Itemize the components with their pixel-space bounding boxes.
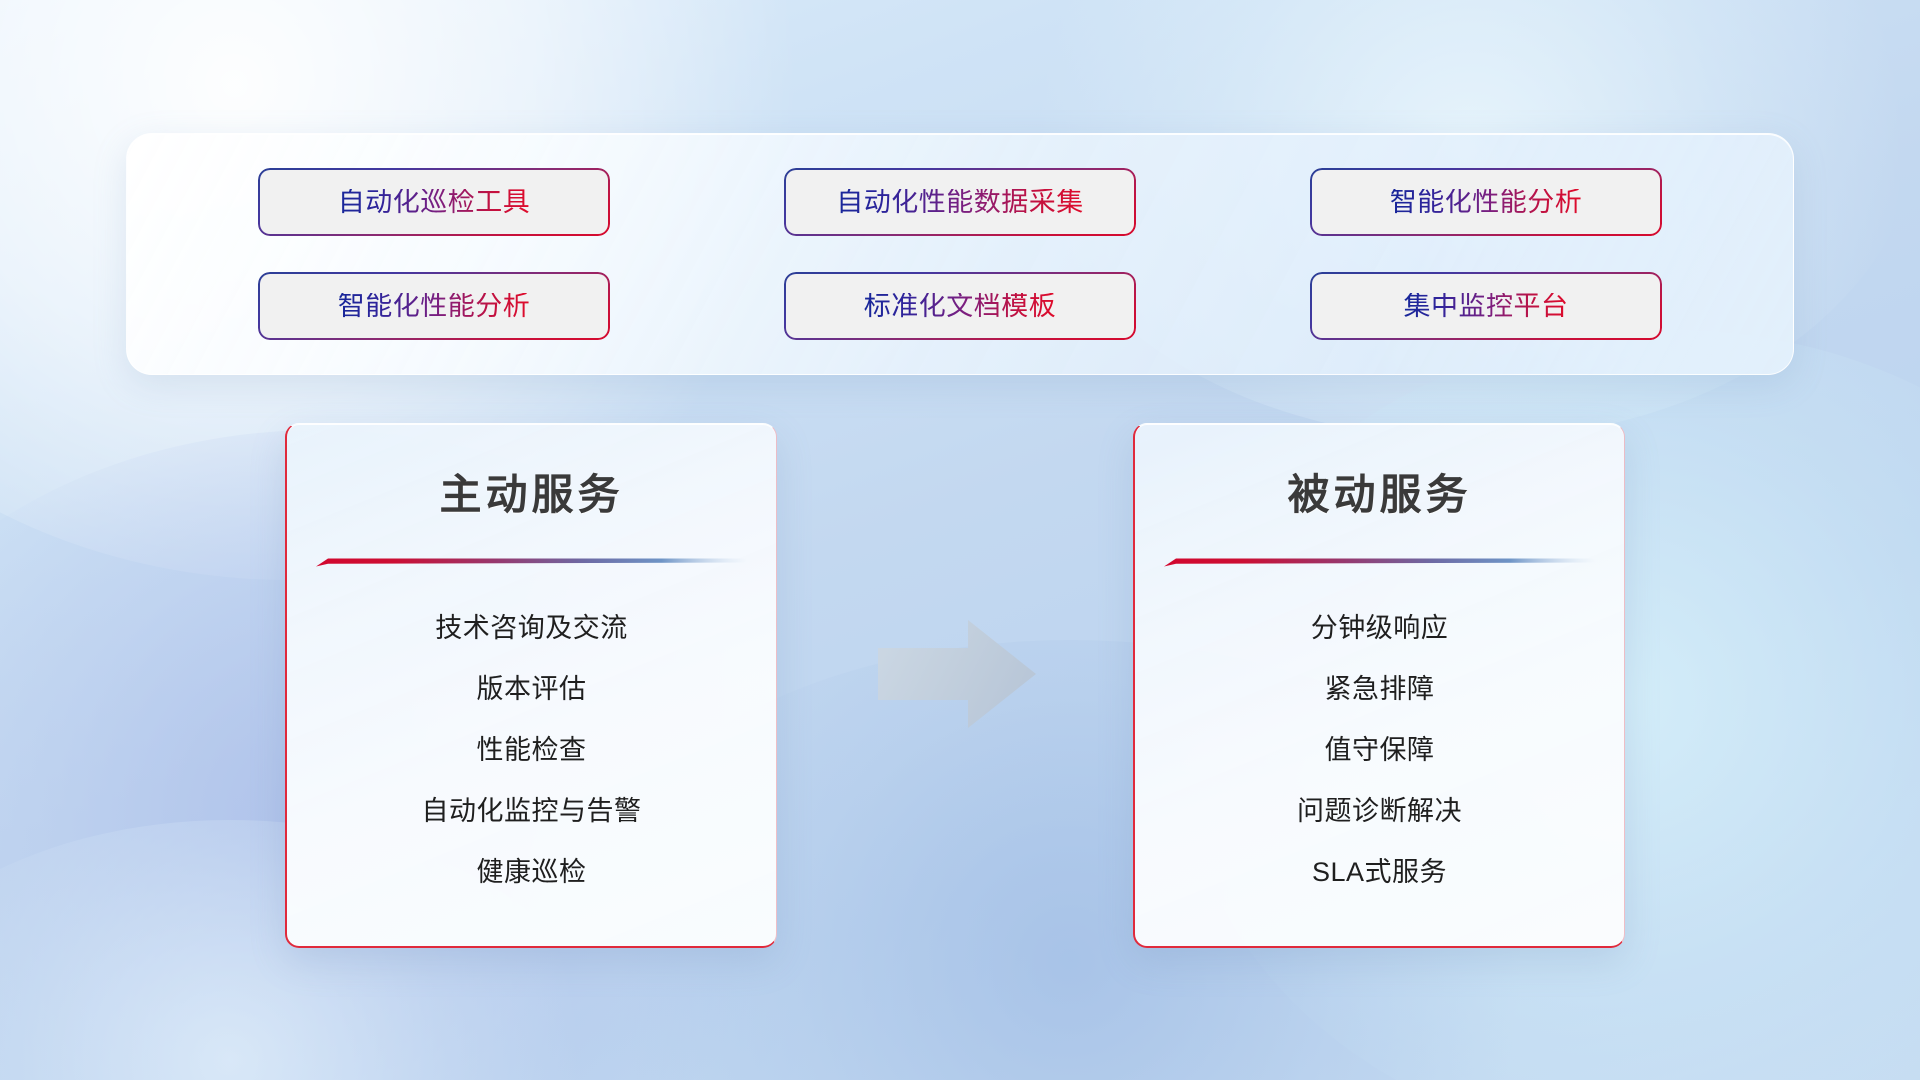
service-list-proactive: 技术咨询及交流 版本评估 性能检查 自动化监控与告警 健康巡检 bbox=[315, 598, 748, 903]
capability-pill-label: 智能化性能分析 bbox=[1390, 189, 1583, 216]
diagram-canvas: 自动化巡检工具 自动化性能数据采集 智能化性能分析 智能化性能分析 标准化文档模… bbox=[0, 0, 1920, 1080]
capability-pill-4[interactable]: 智能化性能分析 bbox=[258, 272, 610, 340]
capability-pill-2[interactable]: 自动化性能数据采集 bbox=[784, 168, 1136, 236]
capability-pill-5[interactable]: 标准化文档模板 bbox=[784, 272, 1136, 340]
capability-pill-3[interactable]: 智能化性能分析 bbox=[1310, 168, 1662, 236]
service-list-item: 性能检查 bbox=[477, 720, 587, 781]
capability-panel: 自动化巡检工具 自动化性能数据采集 智能化性能分析 智能化性能分析 标准化文档模… bbox=[126, 133, 1794, 375]
capability-pill-1[interactable]: 自动化巡检工具 bbox=[258, 168, 610, 236]
service-list-item: 健康巡检 bbox=[477, 842, 587, 903]
service-list-item: 自动化监控与告警 bbox=[422, 781, 642, 842]
card-divider bbox=[316, 554, 748, 568]
service-list-item: 紧急排障 bbox=[1325, 659, 1435, 720]
service-list-item: 技术咨询及交流 bbox=[435, 598, 628, 659]
service-list-item: SLA式服务 bbox=[1312, 842, 1447, 903]
capability-pill-label: 标准化文档模板 bbox=[864, 293, 1057, 320]
capability-pill-6[interactable]: 集中监控平台 bbox=[1310, 272, 1662, 340]
capability-pill-label: 集中监控平台 bbox=[1404, 293, 1569, 320]
service-card-reactive: 被动服务 分钟级响应 紧急排障 值守保障 bbox=[1133, 423, 1625, 948]
service-list-item: 版本评估 bbox=[477, 659, 587, 720]
capability-pill-label: 自动化巡检工具 bbox=[338, 189, 531, 216]
capability-pill-label: 自动化性能数据采集 bbox=[836, 189, 1084, 216]
capability-pill-label: 智能化性能分析 bbox=[338, 293, 531, 320]
service-list-item: 问题诊断解决 bbox=[1297, 781, 1462, 842]
service-list-reactive: 分钟级响应 紧急排障 值守保障 问题诊断解决 SLA式服务 bbox=[1163, 598, 1596, 903]
service-list-item: 值守保障 bbox=[1325, 720, 1435, 781]
arrow-right-icon bbox=[876, 618, 1038, 730]
card-title-proactive: 主动服务 bbox=[439, 474, 623, 516]
service-list-item: 分钟级响应 bbox=[1311, 598, 1449, 659]
card-divider bbox=[1164, 554, 1596, 568]
card-title-reactive: 被动服务 bbox=[1287, 474, 1471, 516]
service-card-proactive: 主动服务 技术咨询及交流 版本评估 性能检查 bbox=[285, 423, 777, 948]
